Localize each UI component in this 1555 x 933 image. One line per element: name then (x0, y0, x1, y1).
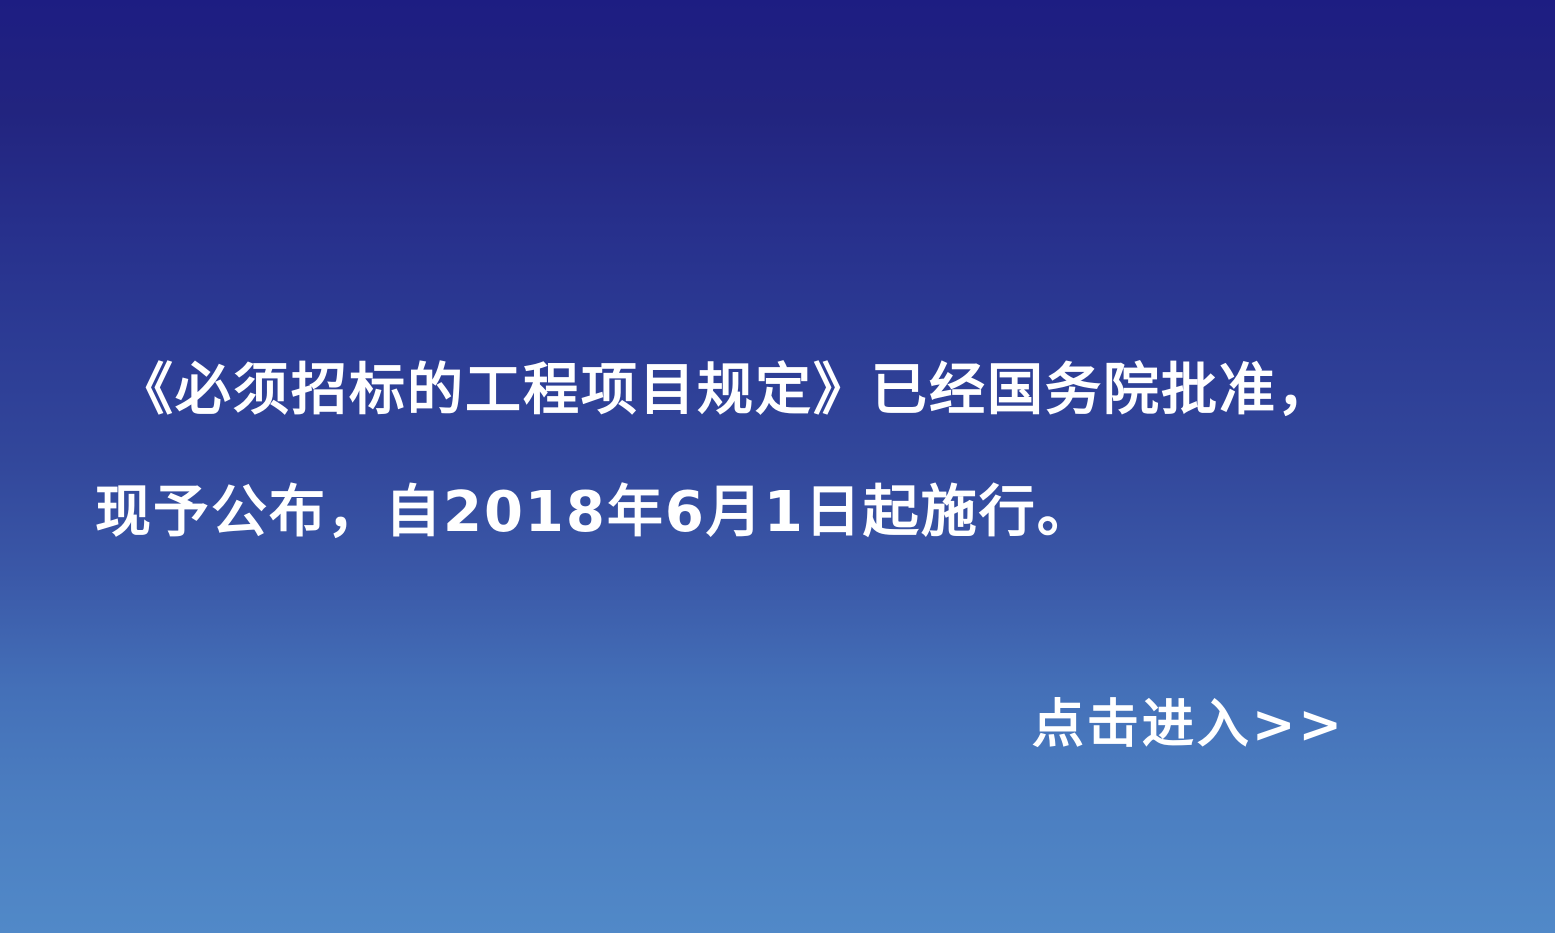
enter-link[interactable]: 点击进入>> (1032, 688, 1345, 762)
announcement-text-block: 《必须招标的工程项目规定》已经国务院批准， 现予公布，自2018年6月1日起施行… (0, 330, 1555, 574)
cta-row: 点击进入>> (0, 688, 1555, 762)
announcement-banner: 《必须招标的工程项目规定》已经国务院批准， 现予公布，自2018年6月1日起施行… (0, 0, 1555, 933)
announcement-line-2: 现予公布，自2018年6月1日起施行。 (95, 452, 1460, 574)
announcement-line-1: 《必须招标的工程项目规定》已经国务院批准， (95, 330, 1460, 452)
